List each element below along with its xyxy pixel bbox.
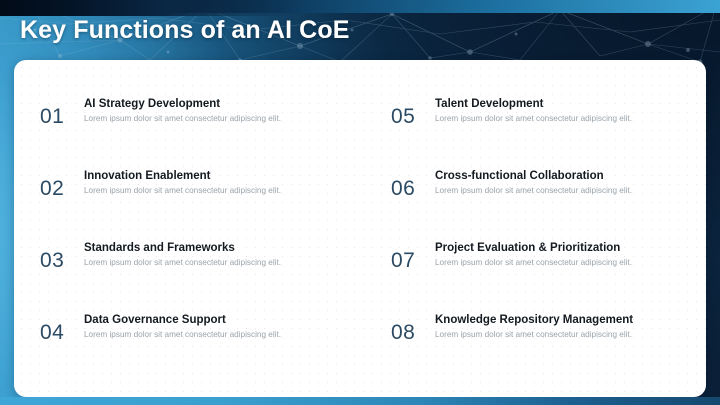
item-text: Knowledge Repository Management Lorem ip… (435, 313, 633, 341)
item-text: AI Strategy Development Lorem ipsum dolo… (84, 97, 281, 125)
item-number: 08 (391, 313, 435, 343)
content-card: 01 AI Strategy Development Lorem ipsum d… (14, 60, 706, 397)
item-number: 01 (40, 97, 84, 127)
card-inner: 01 AI Strategy Development Lorem ipsum d… (14, 60, 706, 397)
item-title: Knowledge Repository Management (435, 313, 633, 327)
item-title: AI Strategy Development (84, 97, 281, 111)
item-text: Cross-functional Collaboration Lorem ips… (435, 169, 632, 197)
list-item[interactable]: 02 Innovation Enablement Lorem ipsum dol… (40, 169, 348, 241)
item-title: Standards and Frameworks (84, 241, 281, 255)
item-description: Lorem ipsum dolor sit amet consectetur a… (84, 258, 281, 269)
list-item[interactable]: 07 Project Evaluation & Prioritization L… (391, 241, 694, 313)
item-title: Cross-functional Collaboration (435, 169, 632, 183)
item-title: Innovation Enablement (84, 169, 281, 183)
item-number: 07 (391, 241, 435, 271)
item-description: Lorem ipsum dolor sit amet consectetur a… (84, 114, 281, 125)
item-description: Lorem ipsum dolor sit amet consectetur a… (435, 186, 632, 197)
item-description: Lorem ipsum dolor sit amet consectetur a… (435, 258, 632, 269)
item-number: 02 (40, 169, 84, 199)
item-number: 03 (40, 241, 84, 271)
items-column-left: 01 AI Strategy Development Lorem ipsum d… (14, 60, 360, 397)
item-description: Lorem ipsum dolor sit amet consectetur a… (84, 186, 281, 197)
item-text: Innovation Enablement Lorem ipsum dolor … (84, 169, 281, 197)
list-item[interactable]: 05 Talent Development Lorem ipsum dolor … (391, 97, 694, 169)
item-number: 05 (391, 97, 435, 127)
item-number: 06 (391, 169, 435, 199)
item-text: Data Governance Support Lorem ipsum dolo… (84, 313, 281, 341)
item-text: Talent Development Lorem ipsum dolor sit… (435, 97, 632, 125)
item-number: 04 (40, 313, 84, 343)
bottom-accent-strip (0, 397, 720, 405)
item-text: Standards and Frameworks Lorem ipsum dol… (84, 241, 281, 269)
item-description: Lorem ipsum dolor sit amet consectetur a… (435, 330, 633, 341)
list-item[interactable]: 08 Knowledge Repository Management Lorem… (391, 313, 694, 385)
item-description: Lorem ipsum dolor sit amet consectetur a… (435, 114, 632, 125)
items-grid: 01 AI Strategy Development Lorem ipsum d… (14, 60, 706, 397)
item-title: Talent Development (435, 97, 632, 111)
list-item[interactable]: 03 Standards and Frameworks Lorem ipsum … (40, 241, 348, 313)
list-item[interactable]: 04 Data Governance Support Lorem ipsum d… (40, 313, 348, 385)
item-text: Project Evaluation & Prioritization Lore… (435, 241, 632, 269)
items-column-right: 05 Talent Development Lorem ipsum dolor … (360, 60, 706, 397)
item-title: Data Governance Support (84, 313, 281, 327)
item-title: Project Evaluation & Prioritization (435, 241, 632, 255)
top-left-dark-corner (0, 0, 300, 16)
page-title: Key Functions of an AI CoE (20, 16, 349, 45)
item-description: Lorem ipsum dolor sit amet consectetur a… (84, 330, 281, 341)
list-item[interactable]: 06 Cross-functional Collaboration Lorem … (391, 169, 694, 241)
slide-root: Key Functions of an AI CoE 01 AI Strateg… (0, 0, 720, 405)
list-item[interactable]: 01 AI Strategy Development Lorem ipsum d… (40, 97, 348, 169)
